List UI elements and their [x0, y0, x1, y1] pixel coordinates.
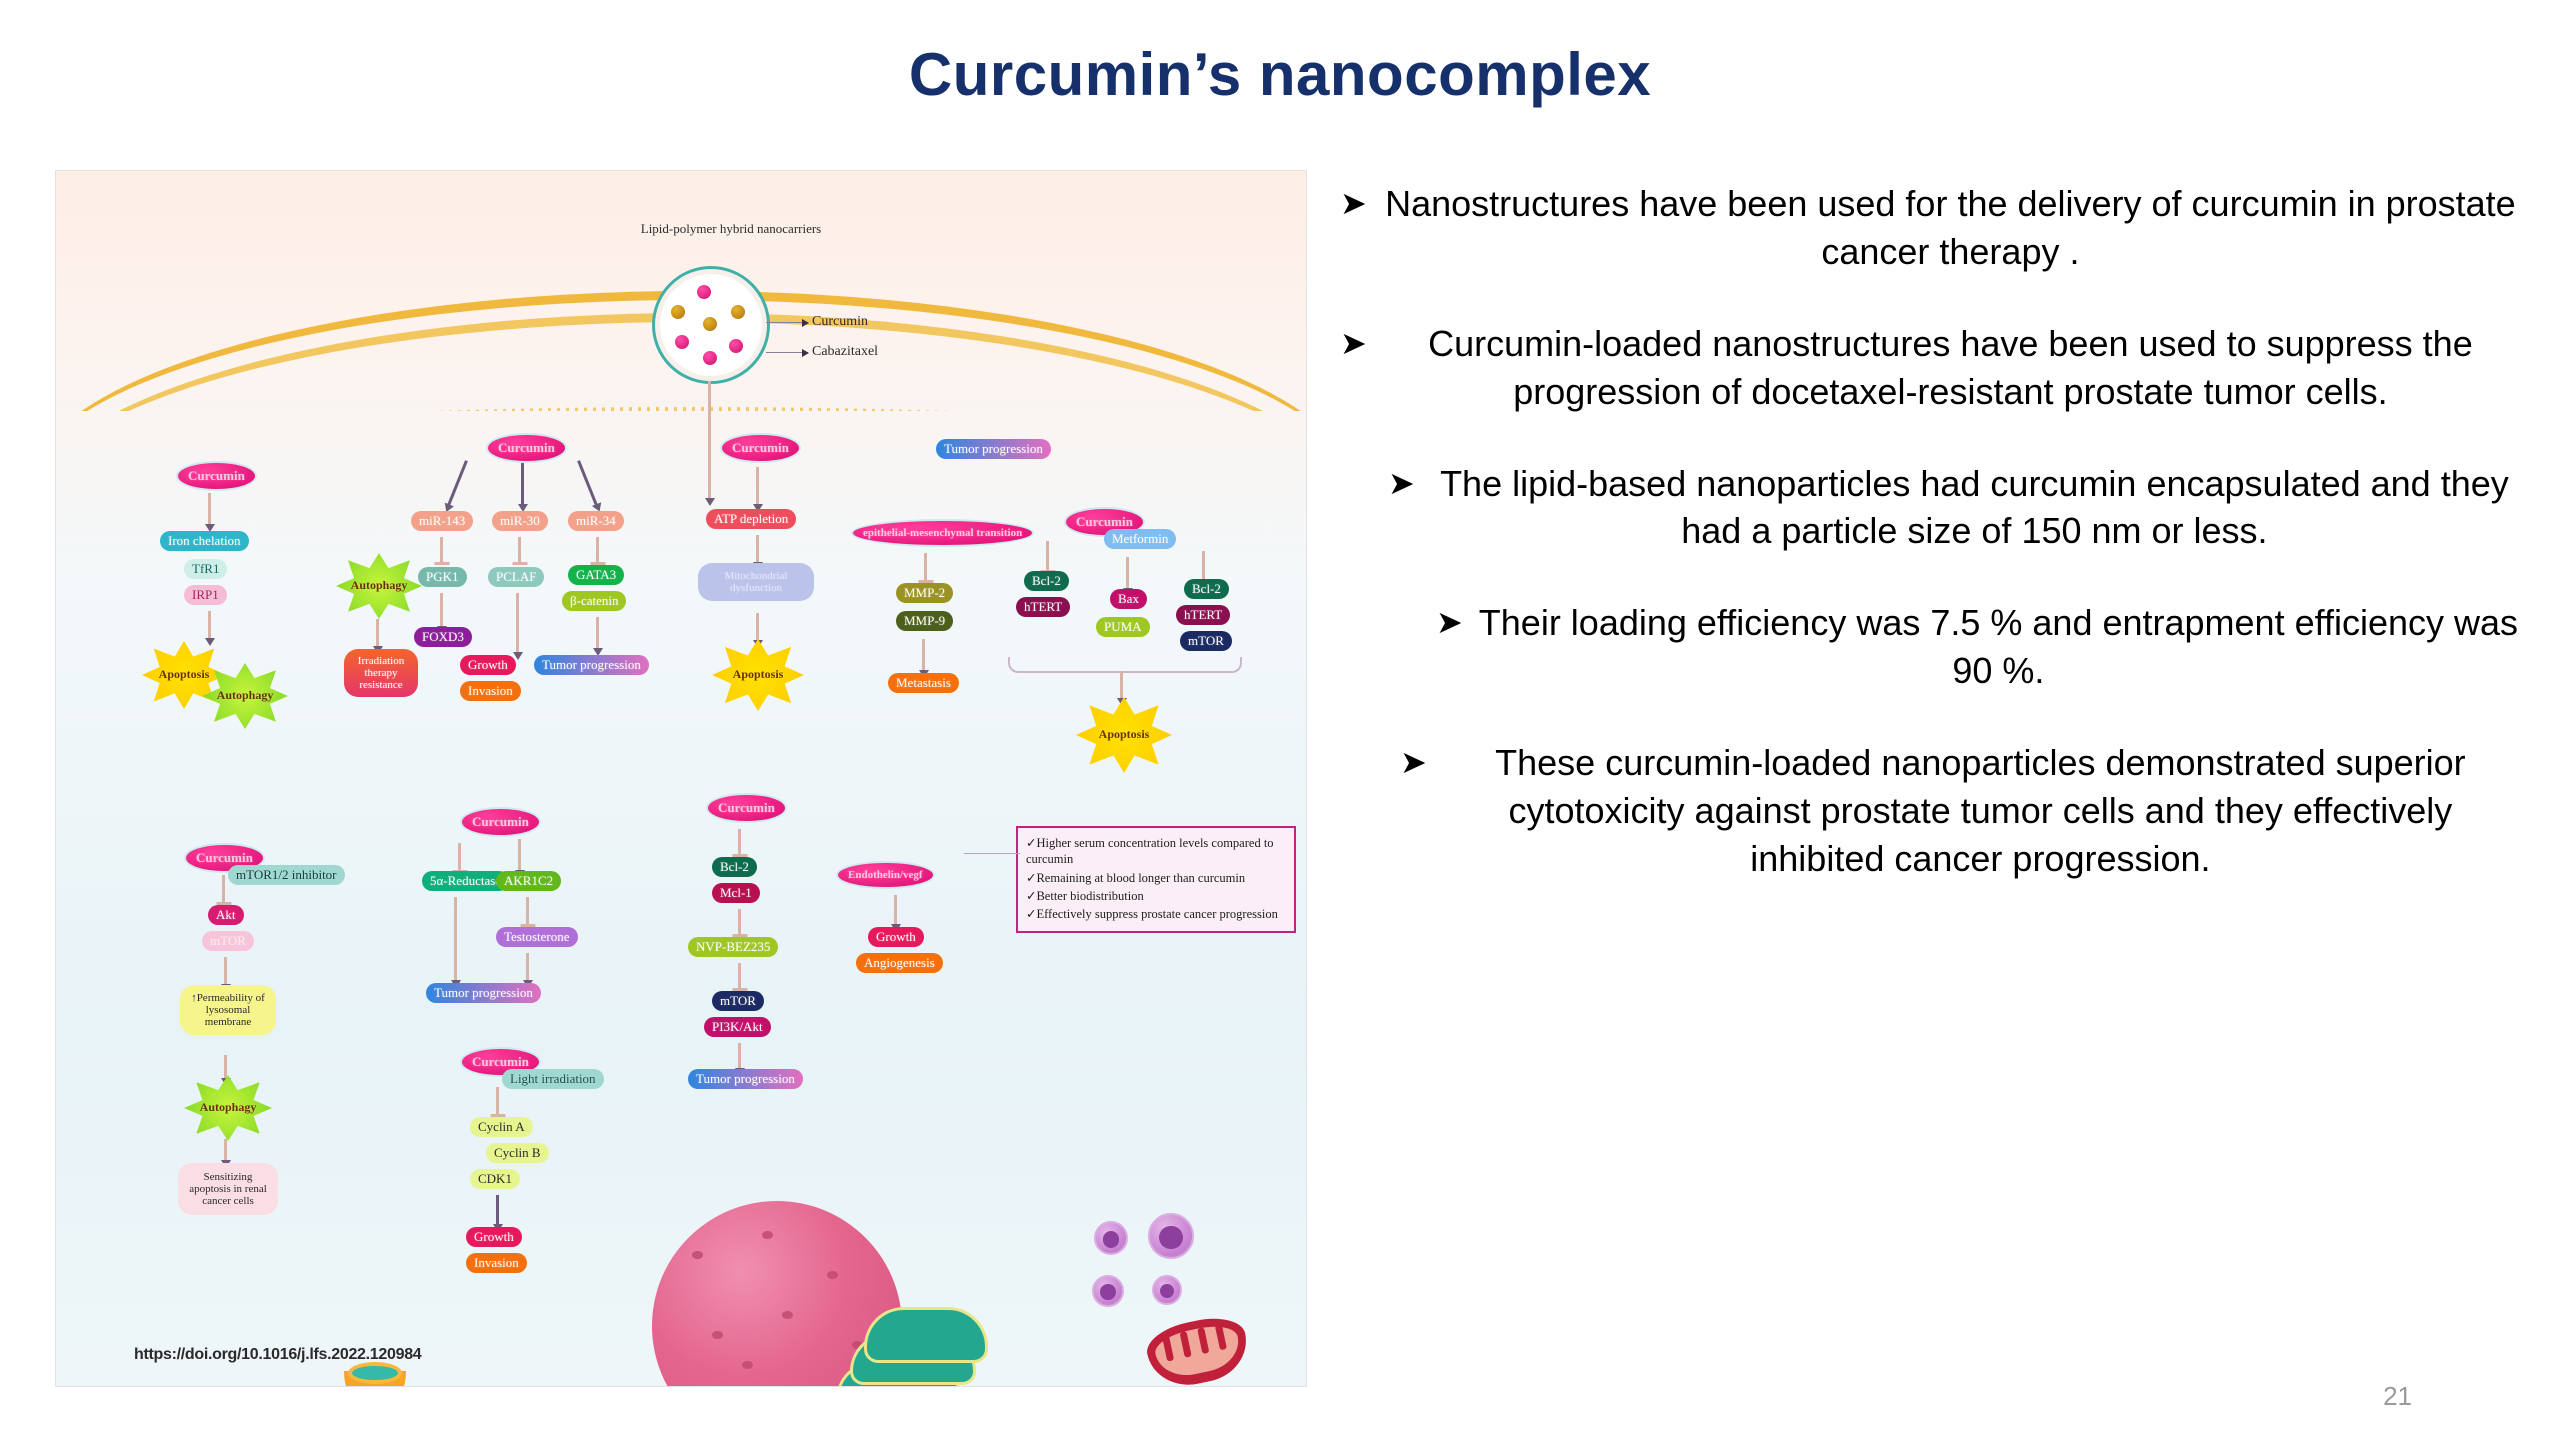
nanocarrier-inset: Lipid-polymer hybrid nanocarriers Curcum…	[616, 221, 846, 401]
node-angiogenesis: Angiogenesis	[856, 953, 943, 973]
node-metformin: Metformin	[1104, 529, 1176, 549]
node-light-irradiation: Light irradiation	[502, 1069, 604, 1089]
vesicle-2	[1148, 1213, 1194, 1259]
checklist-item-4: ✓Effectively suppress prostate cancer pr…	[1026, 906, 1286, 922]
checklist-item-2: ✓Remaining at blood longer than curcumin	[1026, 870, 1286, 886]
node-growth-2: Growth	[868, 927, 924, 947]
bullet-marker-icon: ➤	[1388, 460, 1415, 506]
node-foxd3: FOXD3	[414, 627, 472, 647]
node-curcumin-2: Curcumin	[486, 433, 567, 463]
bullet-marker-icon: ➤	[1400, 739, 1427, 785]
checklist-item-1: ✓Higher serum concentration levels compa…	[1026, 835, 1286, 868]
bullet-marker-icon: ➤	[1340, 180, 1367, 226]
node-atp-depletion: ATP depletion	[706, 509, 796, 529]
pathway-figure: Lipid-polymer hybrid nanocarriers Curcum…	[55, 170, 1307, 1387]
vesicle-1	[1094, 1221, 1128, 1255]
bullet-item-4: ➤ Their loading efficiency was 7.5 % and…	[1340, 599, 2520, 695]
nanocarrier-label-curcumin: Curcumin	[812, 314, 868, 330]
bullet-text: The lipid-based nanoparticles had curcum…	[1429, 460, 2520, 556]
node-tumor-progression-1: Tumor progression	[534, 655, 649, 675]
bullet-text: Their loading efficiency was 7.5 % and e…	[1477, 599, 2520, 695]
node-akr1c2: AKR1C2	[496, 871, 561, 891]
node-cyclin-a: Cyclin A	[470, 1117, 533, 1137]
node-metastasis: Metastasis	[888, 673, 959, 693]
vesicle-4	[1152, 1275, 1182, 1305]
page-title: Curcumin’s nanocomplex	[0, 40, 2560, 109]
checklist-item-3: ✓Better biodistribution	[1026, 888, 1286, 904]
bullet-item-5: ➤ These curcumin-loaded nanoparticles de…	[1340, 739, 2520, 883]
node-mtor-a: mTOR	[1180, 631, 1232, 651]
node-curcumin-1: Curcumin	[176, 461, 257, 491]
node-iron-chelation: Iron chelation	[160, 531, 249, 551]
node-tumor-progression-3: Tumor progression	[688, 1069, 803, 1089]
node-tfr1: TfR1	[184, 559, 227, 579]
node-endothelin: Endothelin/vegf	[836, 861, 935, 889]
node-gata: GATA3	[568, 565, 624, 585]
node-cyclin-b: Cyclin B	[486, 1143, 549, 1163]
vesicle-3	[1092, 1275, 1124, 1307]
node-puma: PUMA	[1096, 617, 1150, 637]
bullet-item-3: ➤ The lipid-based nanoparticles had curc…	[1340, 460, 2520, 556]
node-bcl2-c: Bcl-2	[712, 857, 757, 877]
node-invasion-2: Invasion	[466, 1253, 527, 1273]
bracket	[1008, 657, 1242, 673]
node-mitochondrial-dysfunction: Mitochondrial dysfunction	[698, 563, 814, 601]
node-mcl1: Mcl-1	[712, 883, 760, 903]
node-pclaf: PCLAF	[488, 567, 544, 587]
golgi-apparatus	[836, 1301, 1006, 1387]
bullet-marker-icon: ➤	[1436, 599, 1463, 645]
node-akt: Akt	[208, 905, 244, 925]
bullet-text: These curcumin-loaded nanoparticles demo…	[1441, 739, 2520, 883]
bullet-item-1: ➤ Nanostructures have been used for the …	[1340, 180, 2520, 276]
nanocarrier-label-cabazitaxel: Cabazitaxel	[812, 344, 878, 360]
node-beta-catenin: β-catenin	[562, 591, 626, 611]
node-growth-3: Growth	[466, 1227, 522, 1247]
nanocarrier-circle	[652, 266, 770, 384]
node-testosterone: Testosterone	[496, 927, 578, 947]
node-mir34: miR-34	[568, 511, 624, 531]
doi-citation: https://doi.org/10.1016/j.lfs.2022.12098…	[134, 1346, 421, 1364]
node-irradiation-resistance: Irradiation therapy resistance	[344, 649, 418, 697]
node-invasion-1: Invasion	[460, 681, 521, 701]
node-irp1: IRP1	[184, 585, 227, 605]
node-pi3k-akt: PI3K/Akt	[704, 1017, 771, 1037]
slide-page-number: 21	[2383, 1381, 2412, 1412]
node-mtor12-inhibitor: mTOR1/2 inhibitor	[228, 865, 345, 885]
node-apoptosis-2: Apoptosis	[712, 639, 804, 711]
node-autophagy-1: Autophagy	[202, 663, 288, 729]
checklist-leader-line	[964, 853, 1020, 854]
node-lysosomal-permeability: ↑Permeability of lysosomal membrane	[180, 985, 276, 1035]
node-apoptosis-3: Apoptosis	[1076, 697, 1172, 773]
node-curcumin-3: Curcumin	[720, 433, 801, 463]
node-nvp-bez235: NVP-BEZ235	[688, 937, 778, 957]
node-growth-1: Growth	[460, 655, 516, 675]
bullet-list: ➤ Nanostructures have been used for the …	[1340, 180, 2520, 927]
node-bcl2-a: Bcl-2	[1024, 571, 1069, 591]
node-sensitizing-apoptosis: Sensitizing apoptosis in renal cancer ce…	[178, 1163, 278, 1215]
nanocarrier-title: Lipid-polymer hybrid nanocarriers	[616, 221, 846, 237]
node-htert-a: hTERT	[1016, 597, 1070, 617]
node-curcumin-8: Curcumin	[706, 793, 787, 823]
node-tumor-progression-2: Tumor progression	[426, 983, 541, 1003]
bullet-item-2: ➤ Curcumin-loaded nanostructures have be…	[1340, 320, 2520, 416]
mitochondrion	[1143, 1311, 1254, 1387]
bullet-marker-icon: ➤	[1340, 320, 1367, 366]
node-autophagy-3: Autophagy	[184, 1075, 272, 1141]
bullet-text: Nanostructures have been used for the de…	[1381, 180, 2520, 276]
node-autophagy-2: Autophagy	[336, 553, 422, 619]
node-pgk1: PGK1	[418, 567, 467, 587]
node-emt: epithelial-mesenchymal transition	[851, 519, 1034, 547]
bullet-text: Curcumin-loaded nanostructures have been…	[1381, 320, 2520, 416]
node-cdk1: CDK1	[470, 1169, 520, 1189]
node-mmp2: MMP-2	[896, 583, 953, 603]
node-mir143: miR-143	[411, 511, 473, 531]
node-bcl2-b: Bcl-2	[1184, 579, 1229, 599]
lysosome-1	[344, 1371, 406, 1387]
node-htert-b: hTERT	[1176, 605, 1230, 625]
node-tumor-progression-top: Tumor progression	[936, 439, 1051, 459]
node-mmp9: MMP-9	[896, 611, 953, 631]
node-curcumin-7: Curcumin	[460, 807, 541, 837]
node-bax: Bax	[1110, 589, 1147, 609]
benefits-checklist: ✓Higher serum concentration levels compa…	[1016, 826, 1296, 933]
node-mtor-b: mTOR	[202, 931, 254, 951]
node-mtor-c: mTOR	[712, 991, 764, 1011]
node-mir30: miR-30	[492, 511, 548, 531]
